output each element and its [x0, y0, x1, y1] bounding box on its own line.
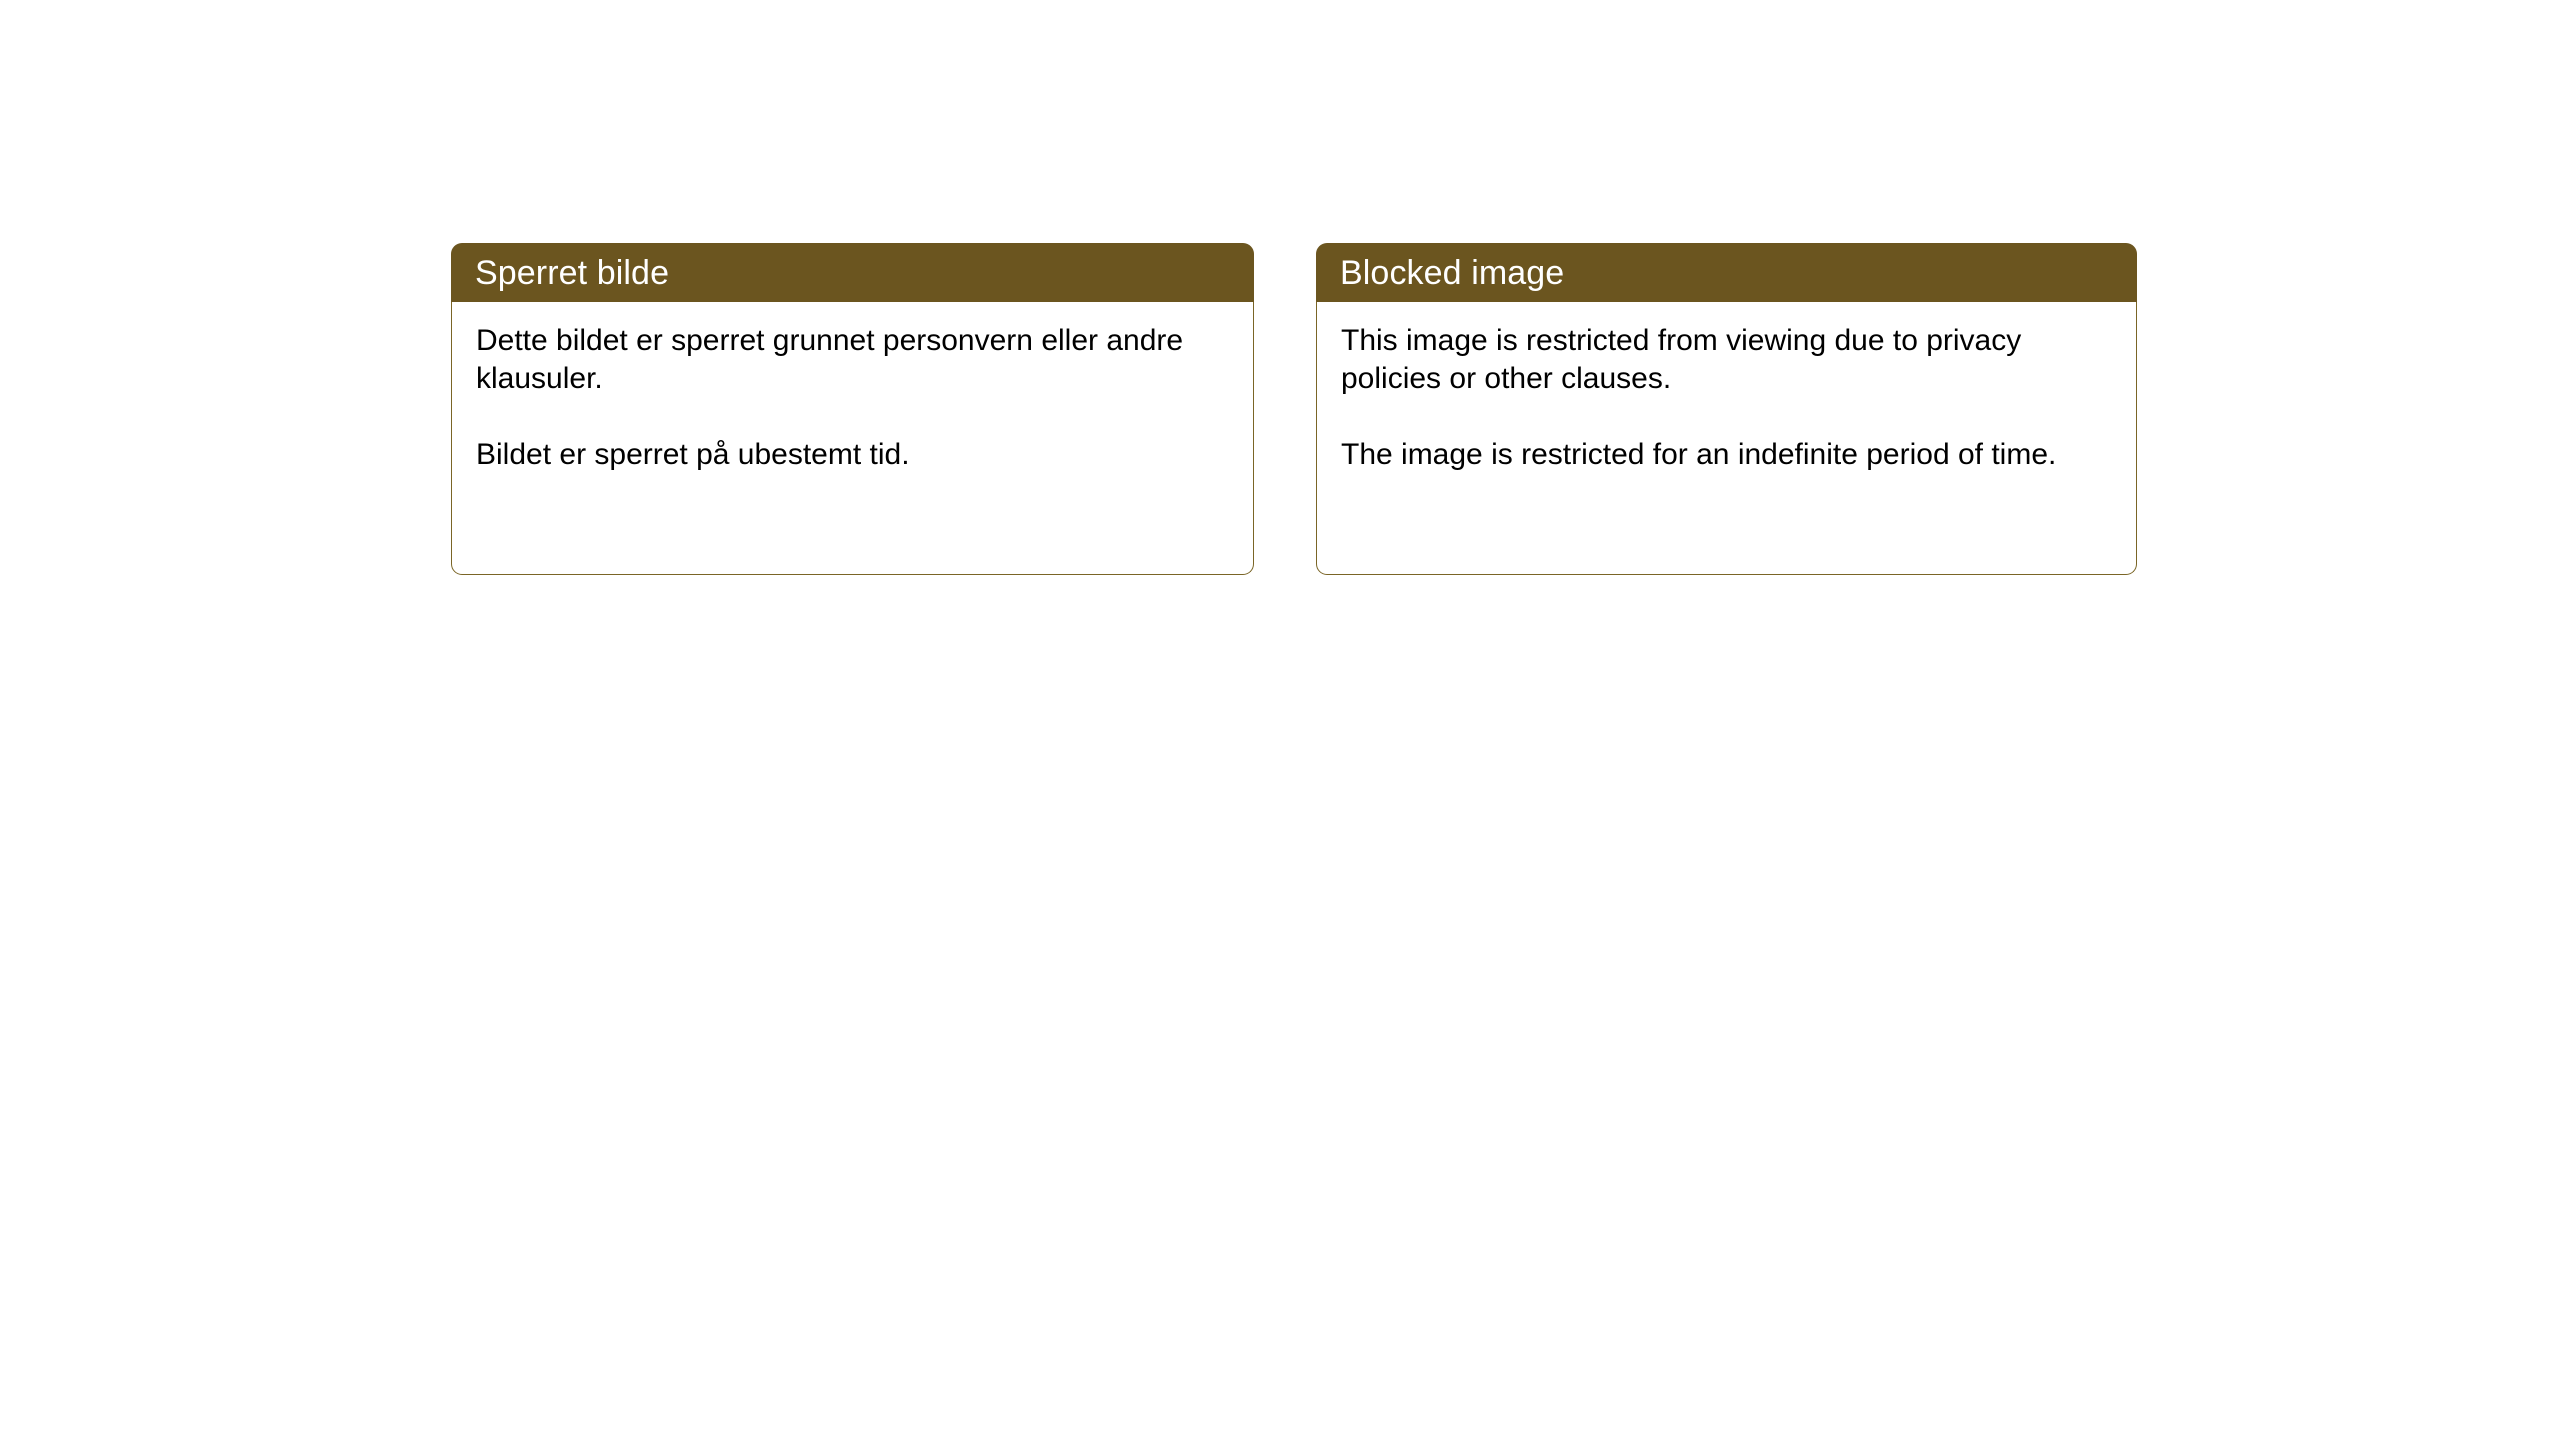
blocked-image-notice-card-english: Blocked image This image is restricted f… [1316, 243, 2137, 575]
notice-card-title-norwegian: Sperret bilde [475, 254, 669, 292]
notice-card-title-english: Blocked image [1340, 254, 1564, 292]
notice-paragraph-reason-english: This image is restricted from viewing du… [1341, 322, 2112, 398]
notice-card-body-english: This image is restricted from viewing du… [1316, 302, 2137, 575]
notice-paragraph-duration-norwegian: Bildet er sperret på ubestemt tid. [476, 436, 1229, 474]
blocked-image-notice-area: Sperret bilde Dette bildet er sperret gr… [451, 243, 2151, 583]
blocked-image-notice-card-norwegian: Sperret bilde Dette bildet er sperret gr… [451, 243, 1254, 575]
notice-card-header-norwegian: Sperret bilde [451, 243, 1254, 302]
notice-paragraph-duration-english: The image is restricted for an indefinit… [1341, 436, 2112, 474]
notice-card-header-english: Blocked image [1316, 243, 2137, 302]
notice-card-body-norwegian: Dette bildet er sperret grunnet personve… [451, 302, 1254, 575]
notice-paragraph-reason-norwegian: Dette bildet er sperret grunnet personve… [476, 322, 1229, 398]
